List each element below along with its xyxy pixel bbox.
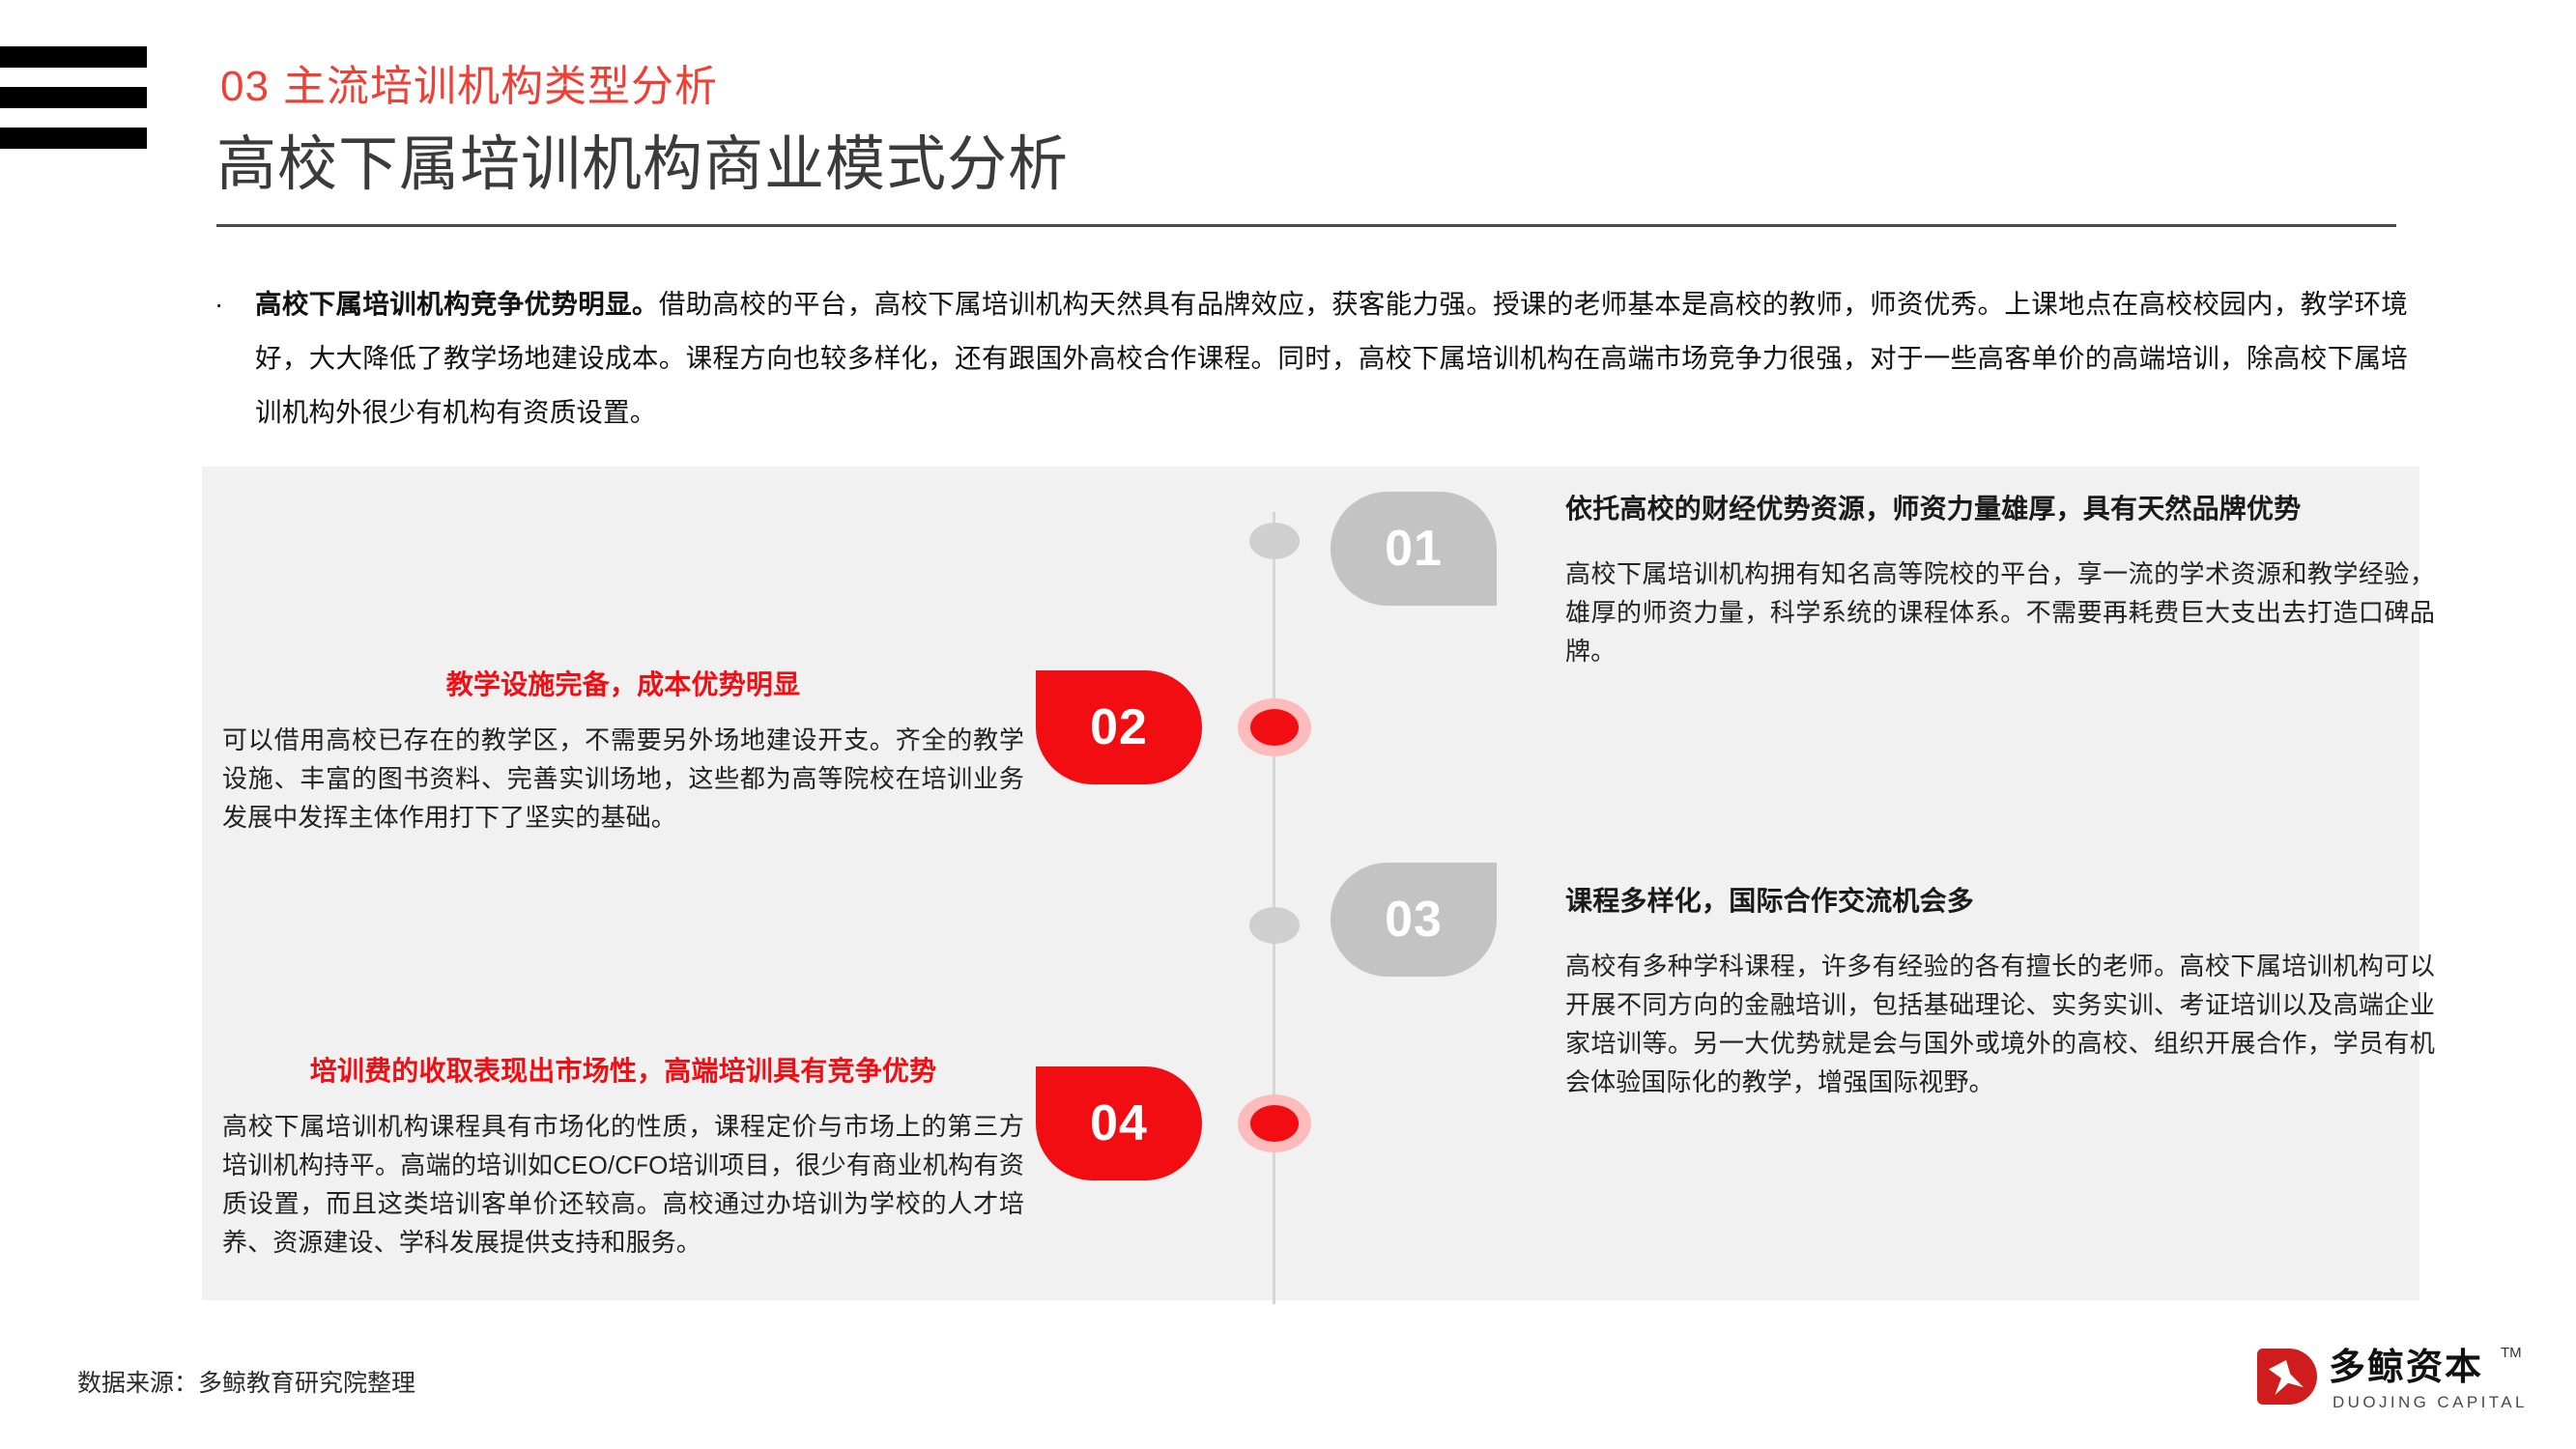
timeline-marker-02-core (1250, 709, 1299, 746)
content-block-01: 依托高校的财经优势资源，师资力量雄厚，具有天然品牌优势 高校下属培训机构拥有知名… (1565, 489, 2435, 670)
content-block-03: 课程多样化，国际合作交流机会多 高校有多种学科课程，许多有经验的各有擅长的老师。… (1565, 881, 2435, 1101)
block-title-02: 教学设施完备，成本优势明显 (222, 665, 1024, 705)
timeline-marker-04-core (1250, 1105, 1299, 1142)
header-divider (216, 224, 2396, 227)
source-note: 数据来源：多鲸教育研究院整理 (77, 1364, 415, 1399)
block-body-02: 可以借用高校已存在的教学区，不需要另外场地建设开支。齐全的教学设施、丰富的图书资… (222, 721, 1024, 837)
stripe-bar (0, 46, 147, 68)
brand-name-en: DUOJING CAPITAL (2333, 1393, 2528, 1412)
block-body-01: 高校下属培训机构拥有知名高等院校的平台，享一流的学术资源和教学经验，雄厚的师资力… (1565, 554, 2435, 670)
slide-root: 03主流培训机构类型分析 高校下属培训机构商业模式分析 · 高校下属培训机构竞争… (0, 0, 2576, 1449)
content-block-02: 教学设施完备，成本优势明显 可以借用高校已存在的教学区，不需要另外场地建设开支。… (222, 665, 1024, 837)
intro-lead: 高校下属培训机构竞争优势明显。 (255, 289, 659, 319)
number-badge-03: 03 (1331, 863, 1497, 977)
number-badge-01: 01 (1331, 492, 1497, 606)
section-number: 03 (220, 63, 270, 110)
page-title: 高校下属培训机构商业模式分析 (216, 135, 1069, 195)
section-label: 主流培训机构类型分析 (283, 63, 718, 110)
timeline-marker-03 (1249, 907, 1300, 944)
timeline-marker-04 (1238, 1094, 1311, 1152)
section-kicker: 03主流培训机构类型分析 (220, 66, 718, 108)
brand-name-cn: 多鲸资本 (2329, 1347, 2483, 1389)
block-title-01: 依托高校的财经优势资源，师资力量雄厚，具有天然品牌优势 (1565, 489, 2435, 529)
block-title-04: 培训费的收取表现出市场性，高端培训具有竞争优势 (222, 1051, 1024, 1092)
whale-logo-icon (2257, 1349, 2317, 1405)
block-body-03: 高校有多种学科课程，许多有经验的各有擅长的老师。高校下属培训机构可以开展不同方向… (1565, 947, 2435, 1101)
block-body-04: 高校下属培训机构课程具有市场化的性质，课程定价与市场上的第三方培训机构持平。高端… (222, 1107, 1024, 1262)
stripe-bar (0, 128, 147, 149)
whale-fin-shape (2269, 1360, 2304, 1395)
trademark-icon: TM (2501, 1345, 2522, 1361)
number-badge-02: 02 (1036, 670, 1202, 784)
stripe-bar (0, 87, 147, 108)
intro-paragraph: · 高校下属培训机构竞争优势明显。借助高校的平台，高校下属培训机构天然具有品牌效… (215, 277, 2408, 440)
timeline-marker-02 (1238, 698, 1311, 756)
intro-text: 高校下属培训机构竞争优势明显。借助高校的平台，高校下属培训机构天然具有品牌效应，… (215, 277, 2408, 440)
header-stripes-decoration (0, 46, 147, 149)
bullet-icon: · (215, 277, 223, 331)
brand-logo: 多鲸资本 TM DUOJING CAPITAL (2257, 1345, 2547, 1422)
content-block-04: 培训费的收取表现出市场性，高端培训具有竞争优势 高校下属培训机构课程具有市场化的… (222, 1051, 1024, 1262)
number-badge-04: 04 (1036, 1066, 1202, 1180)
block-title-03: 课程多样化，国际合作交流机会多 (1565, 881, 2435, 922)
timeline-marker-01 (1249, 523, 1300, 559)
